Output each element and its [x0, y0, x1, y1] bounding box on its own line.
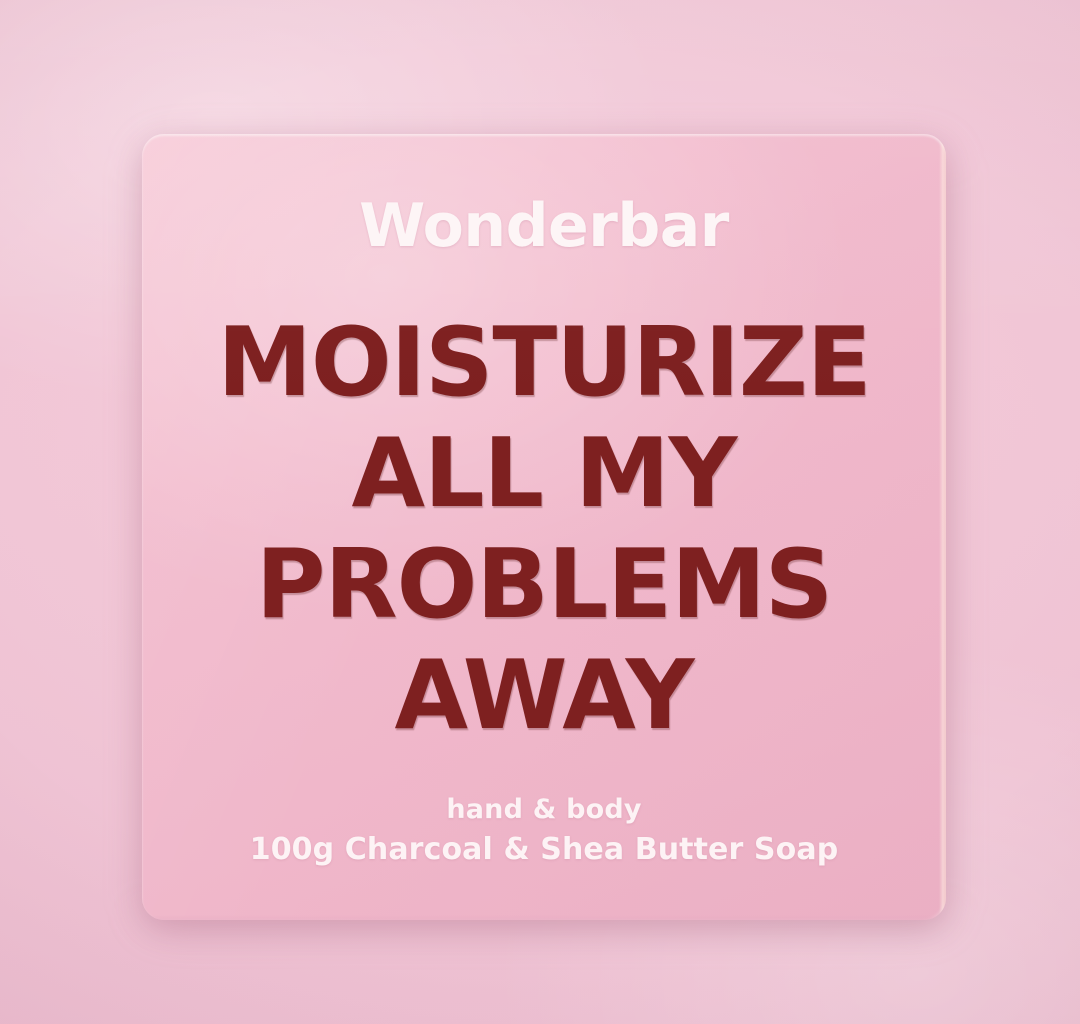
headline-line-2: ALL MY — [217, 419, 870, 530]
headline-line-4: AWAY — [217, 641, 870, 752]
product-description-label: 100g Charcoal & Shea Butter Soap — [250, 831, 839, 869]
headline-block: MOISTURIZE ALL MY PROBLEMS AWAY — [217, 308, 870, 753]
soap-package-box: Wonderbar MOISTURIZE ALL MY PROBLEMS AWA… — [142, 134, 946, 920]
package-footnotes: hand & body 100g Charcoal & Shea Butter … — [250, 793, 839, 870]
product-photo-scene: Wonderbar MOISTURIZE ALL MY PROBLEMS AWA… — [0, 0, 1080, 1024]
package-label: Wonderbar MOISTURIZE ALL MY PROBLEMS AWA… — [142, 134, 946, 920]
headline-line-3: PROBLEMS — [217, 530, 870, 641]
headline-line-1: MOISTURIZE — [217, 308, 870, 419]
usage-label: hand & body — [250, 793, 839, 828]
brand-name: Wonderbar — [359, 196, 729, 256]
